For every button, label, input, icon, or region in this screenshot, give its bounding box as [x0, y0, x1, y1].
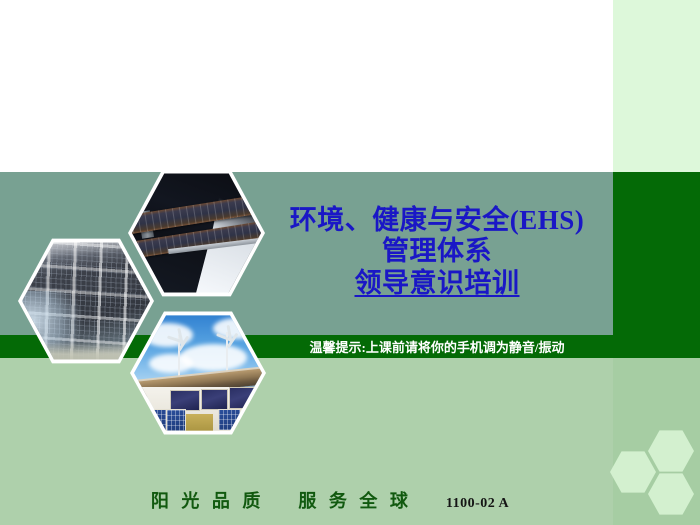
slide-footer: 阳 光 品 质 服 务 全 球 1100-02 A [0, 487, 660, 513]
house-window [201, 389, 229, 410]
slide-title-line-1: 环境、健康与安全(EHS) [262, 205, 612, 236]
footer-slogan-left: 阳 光 品 质 [151, 487, 265, 513]
footer-doc-code: 1100-02 A [446, 496, 509, 512]
slide-subtitle-notice: 温馨提示:上课前请将你的手机调为静音/振动 [262, 337, 612, 356]
footer-slogan-right: 服 务 全 球 [298, 487, 412, 513]
house-window [170, 390, 200, 411]
presentation-slide: 环境、健康与安全(EHS) 管理体系 领导意识培训 温馨提示:上课前请将你的手机… [0, 0, 700, 525]
solar-panel-tile [166, 409, 186, 431]
background-band-white [0, 0, 613, 172]
slide-title-line-2: 管理体系 [262, 236, 612, 267]
slide-title-block: 环境、健康与安全(EHS) 管理体系 领导意识培训 [262, 205, 612, 299]
slide-title-line-3: 领导意识培训 [262, 268, 612, 299]
background-band-right-dark [613, 172, 700, 358]
grass-patch [183, 414, 214, 433]
background-band-right-light [613, 0, 700, 172]
cloud-shape [149, 354, 193, 373]
